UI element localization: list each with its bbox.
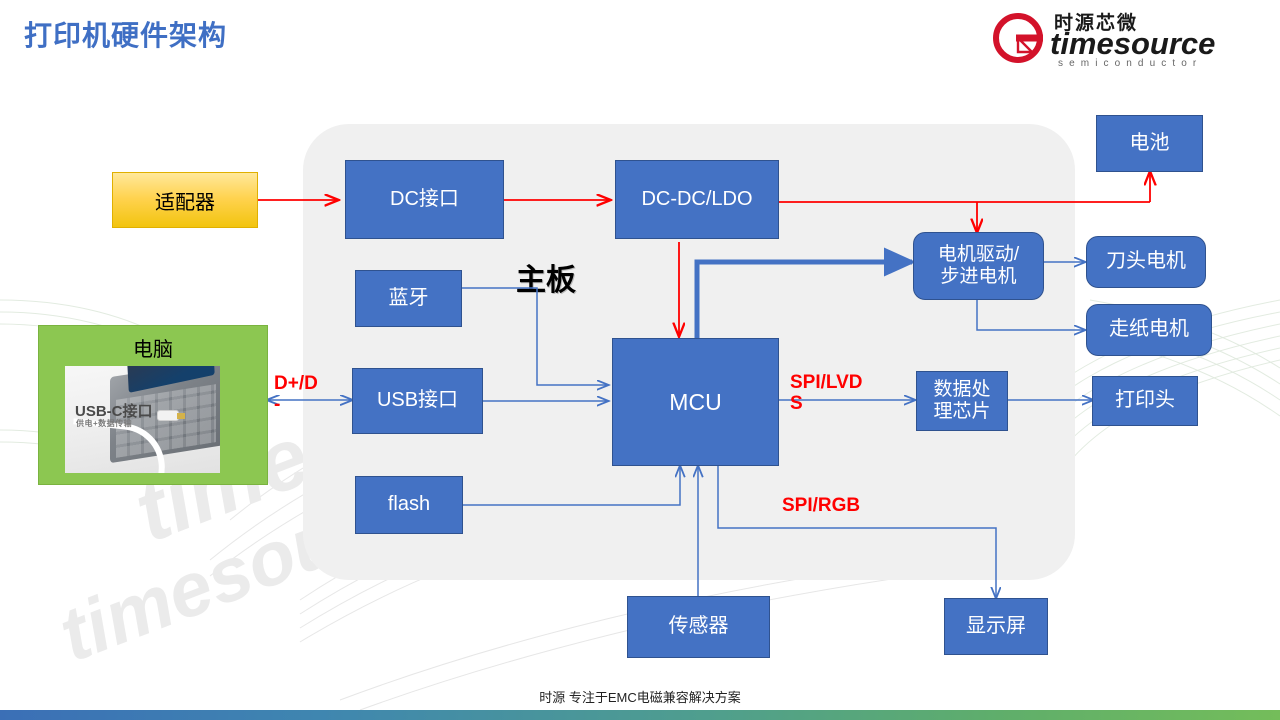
box-cutter-motor-label: 刀头电机 — [1106, 250, 1186, 273]
logo-tagline: semiconductor — [1058, 58, 1202, 69]
box-motor-driver[interactable]: 电机驱动/ 步进电机 — [913, 232, 1044, 300]
box-dc-port[interactable]: DC接口 — [345, 160, 504, 239]
box-data-chip-label-line2: 理芯片 — [933, 401, 990, 423]
bus-label-usb-data: D+/D - — [274, 373, 354, 416]
box-dcdc-ldo-label: DC-DC/LDO — [641, 188, 752, 211]
box-bluetooth[interactable]: 蓝牙 — [355, 270, 462, 327]
bus-label-spi-lvds-line1: SPI/LVD — [790, 372, 886, 393]
box-sensor-label: 传感器 — [669, 615, 729, 638]
photo-subcaption: 供电+数据传输 — [76, 418, 132, 429]
box-print-head[interactable]: 打印头 — [1092, 376, 1198, 426]
box-adapter[interactable]: 适配器 — [112, 172, 258, 228]
brand-logo: 时源芯微 timesource semiconductor — [992, 6, 1262, 72]
box-cutter-motor[interactable]: 刀头电机 — [1086, 236, 1206, 288]
box-battery[interactable]: 电池 — [1096, 115, 1203, 172]
bus-label-spi-rgb: SPI/RGB — [782, 495, 860, 516]
box-bluetooth-label: 蓝牙 — [389, 287, 429, 310]
mainboard-label: 主板 — [516, 255, 576, 299]
box-usb-port-label: USB接口 — [377, 389, 458, 412]
box-dcdc-ldo[interactable]: DC-DC/LDO — [615, 160, 779, 239]
usb-c-plug — [157, 410, 179, 421]
logo-english-name: timesource — [1050, 26, 1215, 62]
bus-label-spi-rgb-text: SPI/RGB — [782, 495, 860, 516]
box-print-head-label: 打印头 — [1115, 389, 1175, 412]
box-flash[interactable]: flash — [355, 476, 463, 534]
box-dc-port-label: DC接口 — [390, 188, 459, 211]
box-battery-label: 电池 — [1130, 132, 1170, 155]
box-computer-label: 电脑 — [39, 333, 267, 362]
box-flash-label: flash — [388, 493, 430, 516]
computer-photo: USB-C接口 供电+数据传输 — [65, 366, 220, 473]
usb-c-plug-tip — [177, 413, 185, 419]
box-data-chip-label-line1: 数据处 — [933, 379, 990, 401]
bus-label-spi-lvds-line2: S — [790, 393, 886, 414]
bus-label-usb-data-line2: - — [274, 394, 354, 415]
box-mcu-label: MCU — [669, 389, 721, 416]
box-data-chip[interactable]: 数据处 理芯片 — [916, 371, 1008, 431]
box-mcu[interactable]: MCU — [612, 338, 779, 466]
box-usb-port[interactable]: USB接口 — [352, 368, 483, 434]
box-motor-driver-label-line2: 步进电机 — [940, 266, 1016, 288]
slide-canvas: timesource timesource timesource 打印机硬件架构… — [0, 0, 1280, 720]
timesource-g-icon — [992, 12, 1044, 64]
box-display-label: 显示屏 — [966, 615, 1026, 638]
footer-text: 时源 专注于EMC电磁兼容解决方案 — [0, 687, 1280, 706]
page-title: 打印机硬件架构 — [24, 14, 227, 54]
box-paper-motor[interactable]: 走纸电机 — [1086, 304, 1212, 356]
bus-label-usb-data-line1: D+/D — [274, 373, 354, 394]
box-computer[interactable]: 电脑 USB-C接口 供电+数据传输 — [38, 325, 268, 485]
box-sensor[interactable]: 传感器 — [627, 596, 770, 658]
footer-gradient-bar — [0, 710, 1280, 720]
box-adapter-label: 适配器 — [155, 186, 215, 215]
box-motor-driver-label-line1: 电机驱动/ — [938, 244, 1019, 266]
box-paper-motor-label: 走纸电机 — [1109, 318, 1189, 341]
bus-label-spi-lvds: SPI/LVD S — [790, 372, 886, 415]
box-display[interactable]: 显示屏 — [944, 598, 1048, 655]
